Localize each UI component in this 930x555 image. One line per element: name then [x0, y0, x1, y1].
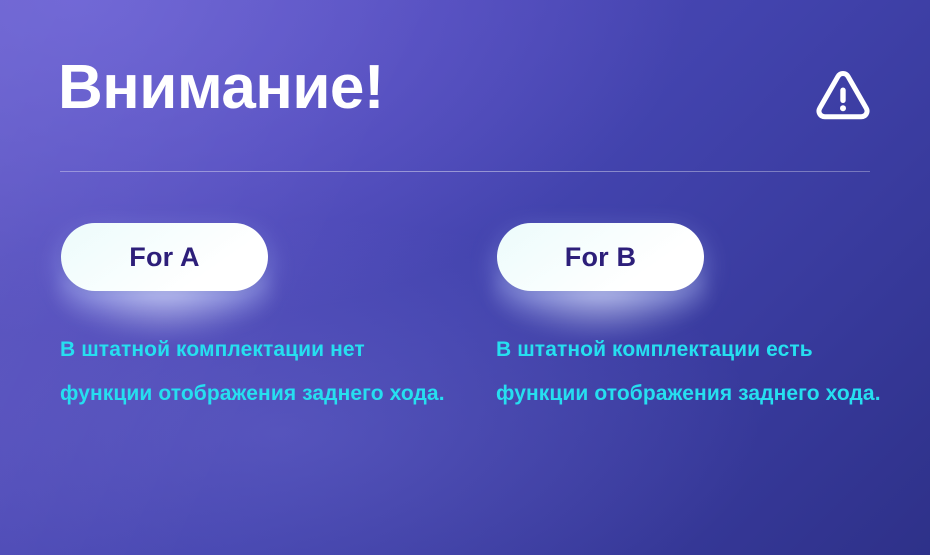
for-a-button-label: For A [129, 242, 200, 273]
for-b-button-label: For B [565, 242, 637, 273]
pill-wrapper-b: For B [497, 223, 704, 291]
for-b-button[interactable]: For B [497, 223, 704, 291]
warning-triangle-icon [812, 64, 874, 126]
column-b: For B [497, 223, 897, 291]
column-a: For A [61, 223, 461, 291]
description-a: В штатной комплектации нет функции отобр… [60, 328, 452, 416]
for-a-button[interactable]: For A [61, 223, 268, 291]
pill-wrapper-a: For A [61, 223, 268, 291]
warning-slide: Внимание! For A В штатной комплектации н… [0, 0, 930, 555]
header-divider [60, 171, 870, 172]
description-b: В штатной комплектации есть функции отоб… [496, 328, 888, 416]
page-title: Внимание! [58, 55, 384, 120]
